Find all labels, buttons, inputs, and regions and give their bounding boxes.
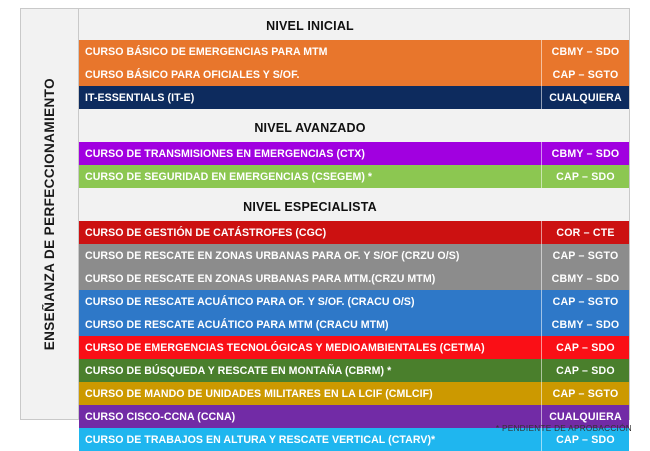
course-row[interactable]: CURSO DE BÚSQUEDA Y RESCATE EN MONTAÑA (… [79,359,629,382]
course-row[interactable]: CURSO BÁSICO PARA OFICIALES Y S/OF.CAP –… [79,63,629,86]
section-title: NIVEL ESPECIALISTA [79,193,541,221]
course-name: CURSO DE SEGURIDAD EN EMERGENCIAS (CSEGE… [79,165,541,188]
course-name: CURSO DE MANDO DE UNIDADES MILITARES EN … [79,382,541,405]
footnote-pending-approval: * PENDIENTE DE APROBACCIÓN [496,424,632,433]
section-header: NIVEL ESPECIALISTA [79,193,629,221]
section-title: NIVEL AVANZADO [79,114,541,142]
course-rank-range: CBMY – SDO [541,313,629,336]
course-row[interactable]: CURSO DE MANDO DE UNIDADES MILITARES EN … [79,382,629,405]
course-name: CURSO DE TRABAJOS EN ALTURA Y RESCATE VE… [79,428,541,451]
section-header-spacer [541,193,629,221]
course-rank-range: CAP – SGTO [541,244,629,267]
course-row[interactable]: CURSO DE TRANSMISIONES EN EMERGENCIAS (C… [79,142,629,165]
course-name: CURSO CISCO-CCNA (CCNA) [79,405,541,428]
course-row[interactable]: CURSO DE EMERGENCIAS TECNOLÓGICAS Y MEDI… [79,336,629,359]
course-rank-range: COR – CTE [541,221,629,244]
course-name: CURSO DE RESCATE EN ZONAS URBANAS PARA M… [79,267,541,290]
course-row[interactable]: CURSO DE RESCATE ACUÁTICO PARA OF. Y S/O… [79,290,629,313]
course-rank-range: CAP – SDO [541,359,629,382]
course-name: CURSO DE BÚSQUEDA Y RESCATE EN MONTAÑA (… [79,359,541,382]
vertical-axis-label-text: ENSEÑANZA DE PERFECCIONAMIENTO [42,78,57,350]
course-rank-range: CUALQUIERA [541,86,629,109]
course-rank-range: CBMY – SDO [541,40,629,63]
course-rank-range: CAP – SGTO [541,382,629,405]
training-levels-chart: ENSEÑANZA DE PERFECCIONAMIENTO NIVEL INI… [20,8,630,420]
course-row[interactable]: CURSO DE GESTIÓN DE CATÁSTROFES (CGC)COR… [79,221,629,244]
section-title: NIVEL INICIAL [79,12,541,40]
course-row[interactable]: CURSO DE RESCATE EN ZONAS URBANAS PARA O… [79,244,629,267]
vertical-axis-label: ENSEÑANZA DE PERFECCIONAMIENTO [21,9,79,419]
course-name: CURSO DE EMERGENCIAS TECNOLÓGICAS Y MEDI… [79,336,541,359]
course-name: CURSO BÁSICO PARA OFICIALES Y S/OF. [79,63,541,86]
course-name: CURSO DE RESCATE ACUÁTICO PARA MTM (CRAC… [79,313,541,336]
course-name: CURSO DE RESCATE ACUÁTICO PARA OF. Y S/O… [79,290,541,313]
course-rank-range: CAP – SDO [541,165,629,188]
course-row[interactable]: CURSO DE RESCATE EN ZONAS URBANAS PARA M… [79,267,629,290]
section-header: NIVEL INICIAL [79,12,629,40]
course-rank-range: CAP – SGTO [541,290,629,313]
section-header-spacer [541,12,629,40]
course-rank-range: CBMY – SDO [541,267,629,290]
course-rank-range: CAP – SGTO [541,63,629,86]
section-header: NIVEL AVANZADO [79,114,629,142]
course-row[interactable]: IT-ESSENTIALS (IT-E)CUALQUIERA [79,86,629,109]
course-name: CURSO DE RESCATE EN ZONAS URBANAS PARA O… [79,244,541,267]
course-name: CURSO DE TRANSMISIONES EN EMERGENCIAS (C… [79,142,541,165]
course-rank-range: CAP – SDO [541,336,629,359]
course-row[interactable]: CURSO BÁSICO DE EMERGENCIAS PARA MTMCBMY… [79,40,629,63]
course-row[interactable]: CURSO DE RESCATE ACUÁTICO PARA MTM (CRAC… [79,313,629,336]
section-header-spacer [541,114,629,142]
course-name: CURSO BÁSICO DE EMERGENCIAS PARA MTM [79,40,541,63]
course-name: IT-ESSENTIALS (IT-E) [79,86,541,109]
course-row[interactable]: CURSO DE SEGURIDAD EN EMERGENCIAS (CSEGE… [79,165,629,188]
course-rank-range: CBMY – SDO [541,142,629,165]
course-table: NIVEL INICIALCURSO BÁSICO DE EMERGENCIAS… [79,9,629,419]
course-name: CURSO DE GESTIÓN DE CATÁSTROFES (CGC) [79,221,541,244]
